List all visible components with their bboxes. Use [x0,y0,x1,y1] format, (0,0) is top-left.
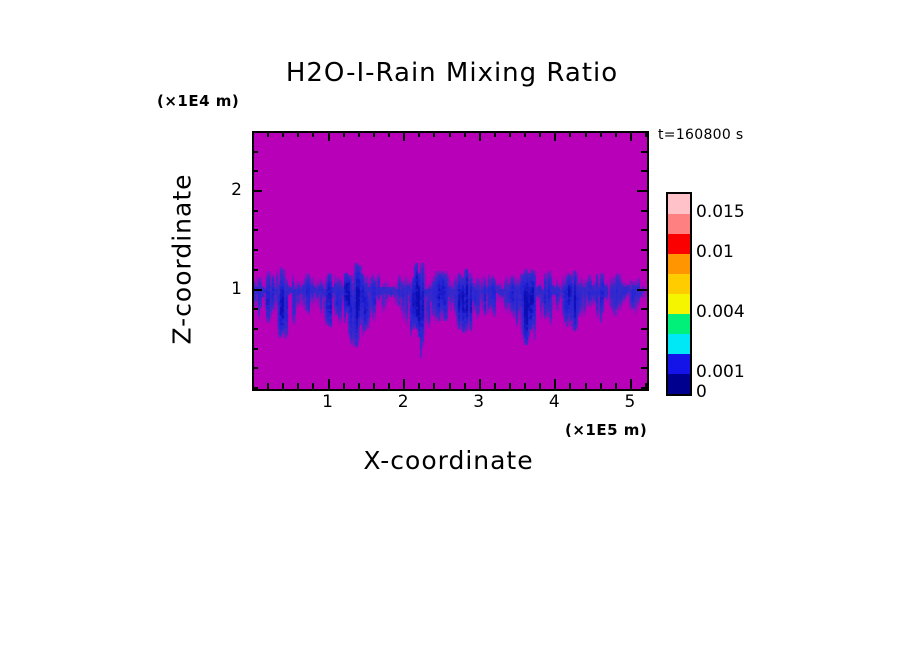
colorbar-tick-label: 0.015 [696,202,745,222]
y-minor-tick [641,328,647,330]
x-minor-tick [464,131,466,137]
x-major-tick [479,131,481,141]
x-minor-tick [343,131,345,137]
y-minor-tick [641,249,647,251]
x-major-tick [554,379,556,389]
colorbar-segment [668,274,690,294]
x-tick-label: 5 [624,392,635,412]
x-minor-tick [433,383,435,389]
colorbar-tick-label: 0.004 [696,302,745,322]
x-minor-tick [615,383,617,389]
x-minor-tick [494,383,496,389]
x-minor-tick [297,131,299,137]
x-major-tick [630,379,632,389]
colorbar-tick-label: 0.01 [696,242,734,262]
y-minor-tick [252,308,258,310]
x-minor-tick [524,131,526,137]
colorbar-segment [668,194,690,214]
x-major-tick [630,131,632,141]
colorbar-segment [668,294,690,314]
time-stamp-annotation: t=160800 s [658,127,743,143]
y-minor-tick [252,151,258,153]
x-minor-tick [388,131,390,137]
y-minor-tick [641,308,647,310]
x-minor-tick [388,383,390,389]
rain-mixing-ratio-field [254,133,647,389]
colorbar-segment [668,214,690,234]
x-minor-tick [373,383,375,389]
x-minor-tick [464,383,466,389]
x-minor-tick [267,383,269,389]
y-minor-tick [252,387,258,389]
x-major-tick [554,131,556,141]
y-minor-tick [252,210,258,212]
x-tick-label: 2 [398,392,409,412]
x-axis-unit-label: (×1E5 m) [565,421,647,439]
y-minor-tick [641,131,647,133]
x-tick-label: 1 [322,392,333,412]
figure-canvas: H2O-I-Rain Mixing Ratio (×1E4 m) 1234512… [0,0,904,654]
x-minor-tick [539,383,541,389]
x-minor-tick [418,131,420,137]
x-minor-tick [449,383,451,389]
colorbar-tick-label: 0.001 [696,362,745,382]
y-minor-tick [641,151,647,153]
y-minor-tick [641,367,647,369]
y-tick-label: 2 [218,180,242,200]
x-minor-tick [569,131,571,137]
x-minor-tick [282,383,284,389]
x-minor-tick [524,383,526,389]
colorbar-segment [668,314,690,334]
y-major-tick [252,289,262,291]
colorbar [666,192,692,396]
x-minor-tick [600,383,602,389]
y-axis-unit-label: (×1E4 m) [157,92,239,110]
colorbar-segment [668,374,690,394]
x-minor-tick [449,131,451,137]
x-minor-tick [267,131,269,137]
x-minor-tick [509,131,511,137]
y-minor-tick [252,131,258,133]
x-major-tick [479,379,481,389]
x-minor-tick [297,383,299,389]
x-minor-tick [373,131,375,137]
x-minor-tick [569,383,571,389]
x-major-tick [403,379,405,389]
y-minor-tick [641,229,647,231]
x-minor-tick [615,131,617,137]
x-tick-label: 4 [549,392,560,412]
x-minor-tick [282,131,284,137]
y-minor-tick [641,210,647,212]
y-minor-tick [252,367,258,369]
y-minor-tick [252,229,258,231]
x-minor-tick [418,383,420,389]
x-minor-tick [600,131,602,137]
y-minor-tick [252,170,258,172]
x-minor-tick [585,383,587,389]
colorbar-segment [668,334,690,354]
x-minor-tick [358,383,360,389]
y-major-tick [637,289,647,291]
x-axis-title: X-coordinate [252,446,645,475]
y-minor-tick [641,170,647,172]
colorbar-segment [668,354,690,374]
x-tick-label: 3 [473,392,484,412]
x-minor-tick [494,131,496,137]
y-major-tick [637,190,647,192]
x-major-tick [403,131,405,141]
page-title: H2O-I-Rain Mixing Ratio [0,58,904,88]
x-minor-tick [585,131,587,137]
x-major-tick [328,131,330,141]
x-minor-tick [358,131,360,137]
y-major-tick [252,190,262,192]
y-tick-label: 1 [218,279,242,299]
y-minor-tick [252,328,258,330]
y-minor-tick [641,348,647,350]
colorbar-tick-label: 0 [696,382,707,402]
x-minor-tick [539,131,541,137]
x-minor-tick [433,131,435,137]
y-minor-tick [252,249,258,251]
colorbar-segment [668,254,690,274]
x-minor-tick [509,383,511,389]
plot-area [252,131,649,391]
x-major-tick [328,379,330,389]
x-minor-tick [343,383,345,389]
x-minor-tick [312,131,314,137]
y-minor-tick [252,348,258,350]
colorbar-segment [668,234,690,254]
y-minor-tick [252,269,258,271]
y-axis-title: Z-coordinate [168,173,197,344]
y-minor-tick [641,387,647,389]
x-minor-tick [312,383,314,389]
y-minor-tick [641,269,647,271]
